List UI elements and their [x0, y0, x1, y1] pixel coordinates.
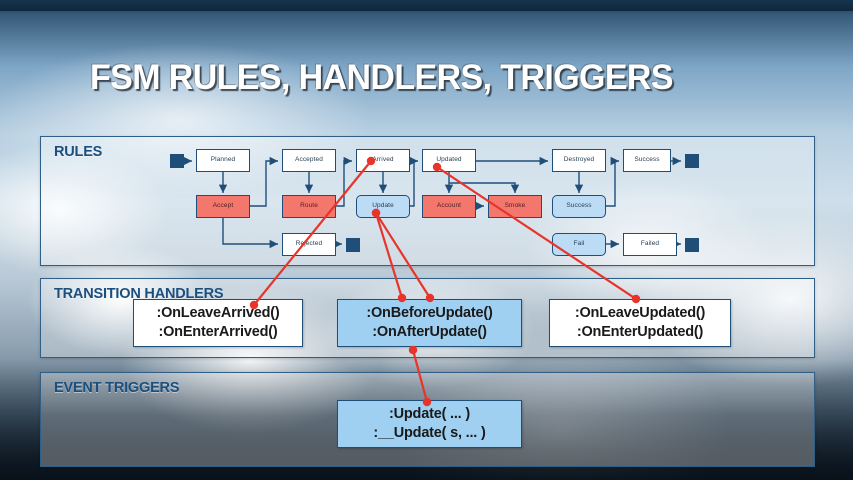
triggers-panel-title: EVENT TRIGGERS	[54, 380, 179, 396]
fsm-node-route: Route	[282, 195, 336, 218]
fsm-node-label: Fail	[574, 241, 585, 248]
fsm-node-label: Accepted	[295, 157, 323, 164]
fsm-terminal-node	[685, 154, 699, 168]
callout-line: :OnBeforeUpdate()	[366, 304, 492, 323]
callout-updated-handlers: :OnLeaveUpdated():OnEnterUpdated()	[549, 299, 731, 347]
fsm-node-label: Planned	[211, 157, 236, 164]
fsm-node-label: Account	[437, 203, 461, 210]
callout-update-handlers: :OnBeforeUpdate():OnAfterUpdate()	[337, 299, 522, 347]
fsm-node-update: Update	[356, 195, 410, 218]
fsm-node-label: Failed	[641, 241, 659, 248]
fsm-node-accept: Accept	[196, 195, 250, 218]
rules-panel: RULES	[40, 136, 815, 266]
fsm-node-success1: Success	[552, 195, 606, 218]
fsm-node-label: Destroyed	[564, 157, 595, 164]
slide-canvas: FSM RULES, HANDLERS, TRIGGERS RULES	[0, 0, 853, 480]
fsm-node-failed: Failed	[623, 233, 677, 256]
callout-line: :Update( ... )	[389, 405, 470, 424]
fsm-node-label: Update	[372, 203, 394, 210]
fsm-node-label: Rejected	[296, 241, 322, 248]
fsm-node-label: Success	[566, 203, 591, 210]
callout-line: :OnEnterArrived()	[158, 323, 277, 342]
title-banner: FSM RULES, HANDLERS, TRIGGERS	[0, 11, 853, 124]
fsm-node-destroyed: Destroyed	[552, 149, 606, 172]
callout-line: :OnLeaveUpdated()	[575, 304, 705, 323]
top-navy-band	[0, 0, 853, 11]
callout-line: :OnLeaveArrived()	[156, 304, 279, 323]
fsm-node-updated: Updated	[422, 149, 476, 172]
fsm-node-rejected: Rejected	[282, 233, 336, 256]
page-title: FSM RULES, HANDLERS, TRIGGERS	[90, 58, 673, 98]
fsm-node-fail: Fail	[552, 233, 606, 256]
fsm-node-label: Updated	[436, 157, 461, 164]
callout-arrived-handlers: :OnLeaveArrived():OnEnterArrived()	[133, 299, 303, 347]
callout-line: :OnEnterUpdated()	[577, 323, 703, 342]
fsm-node-label: Route	[300, 203, 318, 210]
callout-update-triggers: :Update( ... ):__Update( s, ... )	[337, 400, 522, 448]
fsm-node-arrived: Arrived	[356, 149, 410, 172]
fsm-terminal-node	[170, 154, 184, 168]
fsm-node-accepted: Accepted	[282, 149, 336, 172]
fsm-node-account: Account	[422, 195, 476, 218]
fsm-node-label: Smoke	[505, 203, 526, 210]
fsm-node-smoke: Smoke	[488, 195, 542, 218]
fsm-node-label: Accept	[213, 203, 233, 210]
fsm-node-label: Arrived	[372, 157, 393, 164]
callout-line: :OnAfterUpdate()	[372, 323, 486, 342]
fsm-terminal-node	[346, 238, 360, 252]
fsm-state-diagram: PlannedAcceptedArrivedUpdatedDestroyedSu…	[41, 137, 814, 265]
fsm-node-planned: Planned	[196, 149, 250, 172]
fsm-node-label: Success	[634, 157, 659, 164]
fsm-terminal-node	[685, 238, 699, 252]
callout-line: :__Update( s, ... )	[373, 424, 485, 443]
fsm-node-success2: Success	[623, 149, 671, 172]
